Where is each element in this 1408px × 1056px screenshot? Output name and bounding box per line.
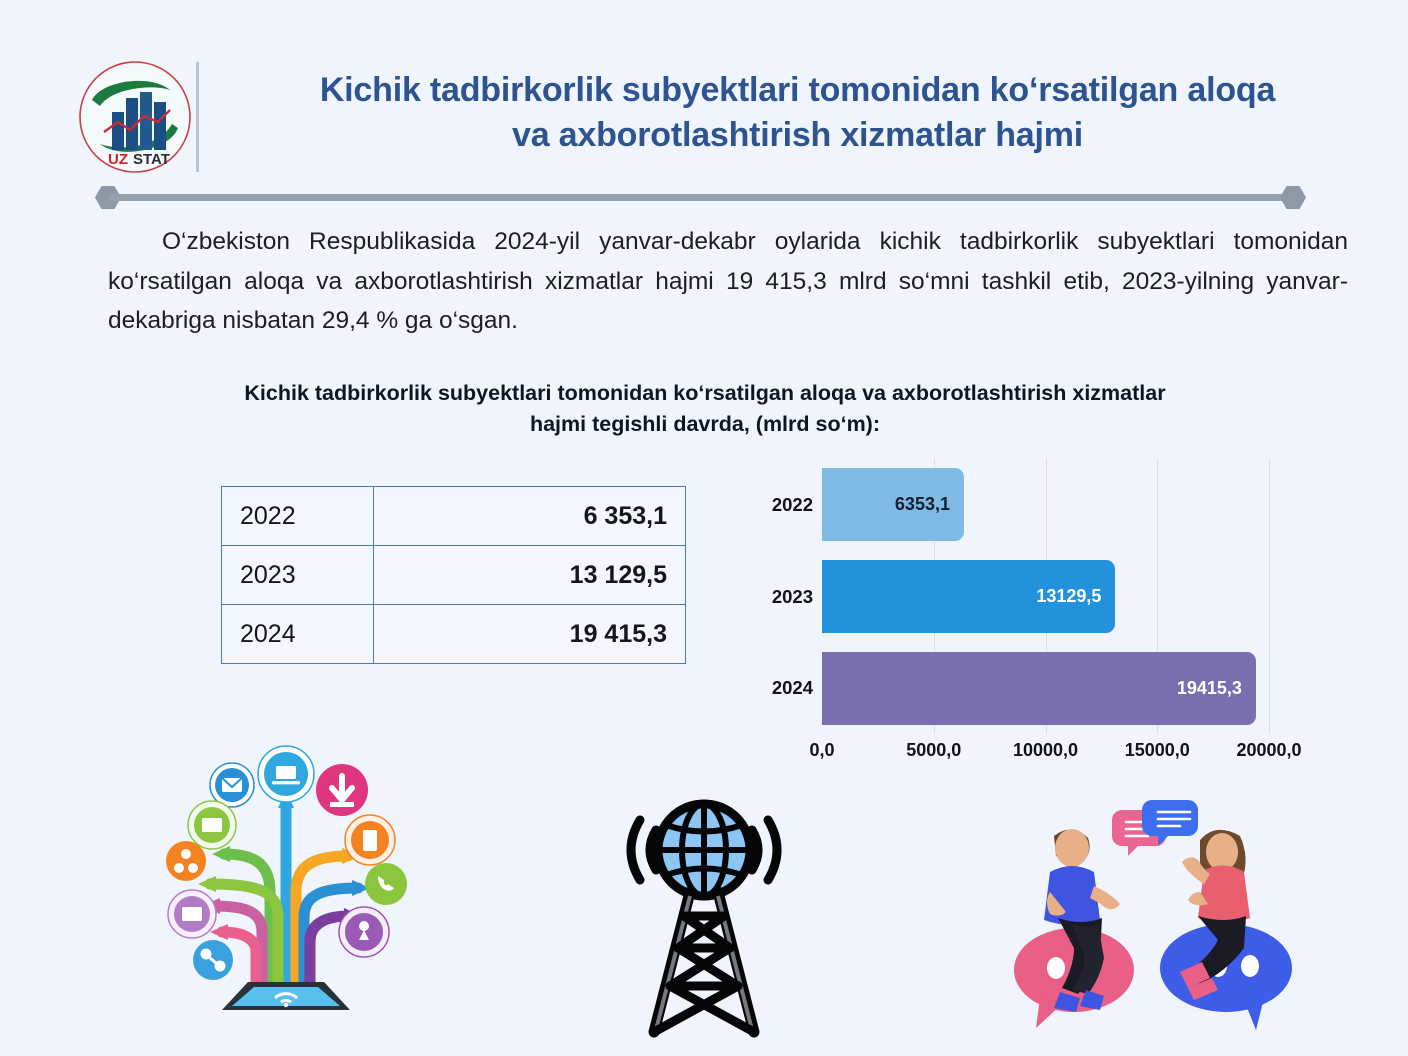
chart-bar-value-label: 19415,3 <box>1177 678 1256 699</box>
chart-gridline <box>1269 459 1270 734</box>
divider-hexagon-right-icon <box>1280 186 1306 209</box>
page-title-line1: Kichik tadbirkorlik subyektlari tomonida… <box>210 68 1385 113</box>
table-row: 202313 129,5 <box>222 546 686 605</box>
table-cell-value: 6 353,1 <box>374 487 686 546</box>
chart-bar-value-label: 13129,5 <box>1036 586 1115 607</box>
table-cell-year: 2023 <box>222 546 374 605</box>
logo-text-stat: STAT <box>133 151 170 168</box>
bar-chart: 6353,113129,519415,3 2022202320240,05000… <box>755 455 1290 770</box>
header-vertical-divider <box>196 62 199 172</box>
intro-paragraph: O‘zbekiston Respublikasida 2024-yil yanv… <box>108 222 1348 341</box>
table-cell-value: 19 415,3 <box>374 605 686 664</box>
technology-tree-illustration <box>152 742 420 1012</box>
page-header: UZ STAT Kichik tadbirkorlik subyektlari … <box>0 52 1408 182</box>
page-title: Kichik tadbirkorlik subyektlari tomonida… <box>210 68 1385 158</box>
chart-caption-line1: Kichik tadbirkorlik subyektlari tomonida… <box>100 378 1310 409</box>
chart-caption-line2: hajmi tegishli davrda, (mlrd so‘m): <box>100 409 1310 440</box>
uzstat-logo: UZ STAT <box>78 60 192 176</box>
people-on-speech-bubbles-illustration <box>1012 800 1312 1032</box>
chart-xtick-label: 0,0 <box>809 740 834 761</box>
chart-category-label-2023: 2023 <box>755 586 813 608</box>
logo-text-uz: UZ <box>108 151 128 168</box>
table-cell-value: 13 129,5 <box>374 546 686 605</box>
broadcast-tower-icon <box>604 792 804 1040</box>
chart-category-label-2022: 2022 <box>755 494 813 516</box>
chart-xtick-label: 20000,0 <box>1236 740 1301 761</box>
chart-bar-value-label: 6353,1 <box>895 494 964 515</box>
chart-bar-2022: 6353,1 <box>822 468 964 541</box>
uzstat-logo-icon: UZ STAT <box>78 60 192 174</box>
table-row: 202419 415,3 <box>222 605 686 664</box>
chart-caption: Kichik tadbirkorlik subyektlari tomonida… <box>100 378 1310 439</box>
data-table: 20226 353,1202313 129,5202419 415,3 <box>221 486 686 664</box>
page-title-line2: va axborotlashtirish xizmatlar hajmi <box>210 113 1385 158</box>
infographic-page: UZ STAT Kichik tadbirkorlik subyektlari … <box>0 0 1408 1056</box>
chart-plot-area: 6353,113129,519415,3 <box>822 459 1269 734</box>
chart-xtick-label: 5000,0 <box>906 740 961 761</box>
chart-category-label-2024: 2024 <box>755 677 813 699</box>
table-cell-year: 2022 <box>222 487 374 546</box>
chart-bar-2023: 13129,5 <box>822 560 1115 633</box>
chart-xtick-label: 15000,0 <box>1125 740 1190 761</box>
chart-xtick-label: 10000,0 <box>1013 740 1078 761</box>
table-cell-year: 2024 <box>222 605 374 664</box>
divider-line <box>109 194 1292 201</box>
section-divider <box>95 186 1306 208</box>
chart-bar-2024: 19415,3 <box>822 652 1256 725</box>
table-row: 20226 353,1 <box>222 487 686 546</box>
